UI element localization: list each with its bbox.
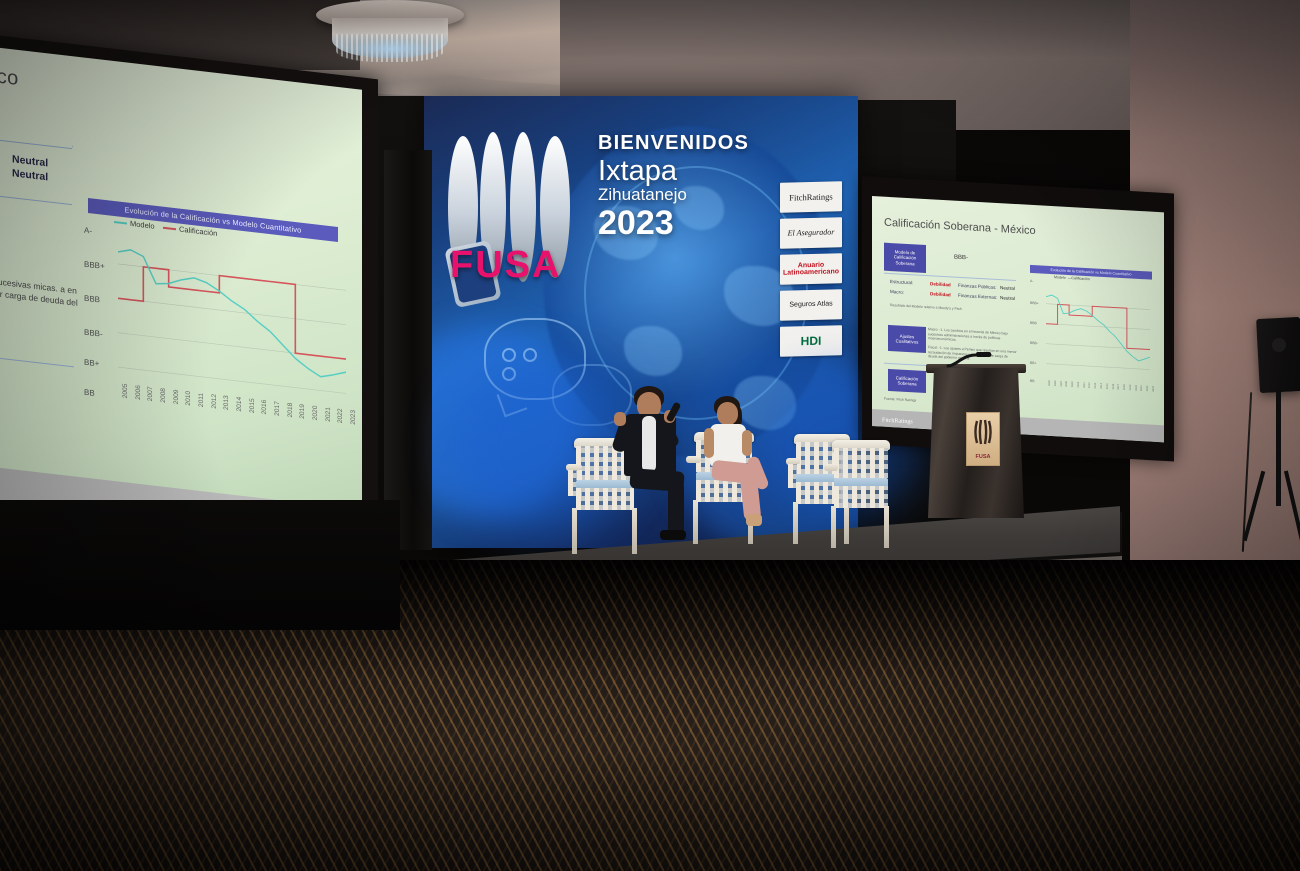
chart-xtick: 2006: [135, 385, 142, 400]
pa-loudspeaker: [1256, 317, 1300, 393]
chart-ytick-0: BB: [84, 388, 95, 398]
chart-xtick: 2016: [1112, 384, 1115, 390]
right-chart-legend: Modelo —Calificación: [1054, 275, 1090, 281]
chart-xtick: 2013: [1094, 383, 1097, 389]
chart-xtick: 2012: [1088, 382, 1091, 388]
chart-xtick: 2021: [1140, 385, 1143, 391]
rating-evolution-chart: Evolución de la Calificación vs Modelo C…: [84, 198, 346, 478]
row2-assessment2: Neutral: [1000, 295, 1015, 301]
sponsor-logo-label: FitchRatings: [789, 192, 832, 202]
chart-xtick: 2021: [325, 407, 332, 422]
chart-xtick: 2019: [299, 404, 306, 419]
sponsor-logo-aseg: El Asegurador: [780, 217, 842, 249]
sponsor-logo-label: Anuario Latinoamericano: [780, 261, 842, 277]
chart-xtick: 2020: [312, 405, 319, 420]
chart-xtick: 2022: [337, 408, 344, 423]
rating-model-box: Modelo de Calificación Soberana: [884, 243, 926, 273]
chart-ytick-2: BBB-: [84, 328, 103, 339]
qual-text-1: Macro: -1. Los cambios en el historial d…: [928, 327, 1018, 346]
chart-xtick: 2009: [173, 389, 180, 404]
sponsor-logo-anuario: Anuario Latinoamericano: [780, 253, 842, 285]
right-rating-chart: Evolución de la Calificación vs Modelo C…: [1030, 265, 1156, 412]
chart-xtick: 2014: [236, 396, 243, 411]
chart-xtick: 2012: [211, 394, 218, 409]
sponsor-logo-label: HDI: [801, 334, 822, 347]
fusa-wordmark: FUSA: [450, 244, 561, 287]
chart-ytick-5: A-: [84, 226, 92, 236]
chart-xtick: 2016: [261, 399, 268, 414]
podium-fusa-icon: [974, 419, 992, 445]
rating-model-value: BBB-: [954, 255, 968, 262]
right-chart-ytick-3: BBB: [1030, 321, 1037, 325]
left-slide: éxico Neutral Neutral ico bajo sucesivas…: [0, 46, 362, 542]
row1-assessment: Debilidad: [930, 281, 951, 287]
chart-xtick: 2019: [1129, 385, 1132, 391]
backdrop-welcome: BIENVENIDOS: [598, 132, 758, 155]
right-chart-xaxis: 2005200620072008200920102011201220132014…: [1046, 386, 1150, 412]
backdrop-headline: BIENVENIDOS Ixtapa Zihuatanejo 2023: [598, 132, 758, 240]
chart-xtick: 2020: [1135, 385, 1138, 391]
chart-xtick: 2017: [1117, 384, 1120, 390]
row2-assessment: Debilidad: [930, 291, 951, 297]
left-projection-screen: éxico Neutral Neutral ico bajo sucesivas…: [0, 46, 362, 542]
right-slide-note: Resultado del Modelo relativo a Moody's …: [890, 303, 1010, 314]
conference-stage-photo: éxico Neutral Neutral ico bajo sucesivas…: [0, 0, 1300, 871]
right-chart-title: Evolución de la Calificación vs Modelo C…: [1030, 265, 1152, 280]
chart-xtick: 2011: [1083, 382, 1086, 388]
right-chart-ytick-4: BBB+: [1030, 301, 1039, 305]
row1-label: Estructural:: [890, 279, 913, 285]
chart-xtick: 2018: [1123, 384, 1126, 390]
stage-drape: [384, 150, 432, 550]
sponsor-logo-column: FitchRatingsEl AseguradorAnuario Latinoa…: [780, 182, 842, 362]
gooseneck-microphone: [946, 352, 992, 368]
chart-xtick: 2011: [198, 393, 205, 408]
backdrop-city2: Zihuatanejo: [598, 186, 758, 205]
speaker-stand-pole: [1276, 388, 1281, 506]
sponsor-logo-hdi: HDI: [780, 325, 842, 357]
chart-xtick: 2009: [1071, 381, 1074, 387]
chart-xtick: 2015: [249, 398, 256, 413]
chart-xtick: 2005: [1048, 380, 1051, 386]
right-chart-ytick-0: BB: [1030, 379, 1035, 383]
backdrop-city: Ixtapa: [598, 157, 758, 186]
circular-chandelier: [310, 0, 470, 72]
final-rating-box: Calificación Soberana: [888, 369, 926, 393]
right-chart-plot: [1046, 284, 1150, 390]
chart-ytick-1: BB+: [84, 358, 99, 369]
chart-xtick: 2018: [287, 402, 294, 417]
right-chart-ytick-2: BBB-: [1030, 341, 1038, 345]
chart-xtick: 2017: [274, 401, 281, 416]
row2-label: Macro:: [890, 289, 904, 295]
sponsor-logo-label: El Asegurador: [788, 228, 835, 238]
row2-label2: Finanzas Externas:: [958, 293, 997, 300]
speaker-driver: [1272, 338, 1286, 352]
chart-xtick: 2008: [1065, 381, 1068, 387]
chart-xtick: 2015: [1106, 383, 1109, 389]
podium-fusa-label: FUSA: [967, 454, 999, 460]
chart-xtick: 2010: [185, 391, 192, 406]
left-slide-value-2: Neutral: [12, 167, 48, 183]
left-slide-title: éxico: [0, 62, 19, 91]
right-slide-source: Fuente: Fitch Ratings: [884, 397, 916, 403]
chart-xtick: 2022: [1146, 386, 1149, 392]
chart-xtick: 2023: [1152, 386, 1155, 392]
chart-xtick: 2005: [122, 383, 129, 398]
sponsor-logo-atlas: Seguros Atlas: [780, 289, 842, 321]
row1-assessment2: Neutral: [1000, 285, 1015, 291]
chart-xtick: 2014: [1100, 383, 1103, 389]
room-dark-foreground-left: [0, 500, 400, 630]
chart-xtick: 2007: [1060, 381, 1063, 387]
chart-xtick: 2006: [1054, 380, 1057, 386]
backdrop-year: 2023: [598, 206, 758, 240]
qualitative-adjustments-box: Ajustes Cualitativos: [888, 325, 926, 353]
podium-fusa-plate: FUSA: [966, 412, 1000, 466]
right-chart-ytick-1: BB+: [1030, 361, 1037, 365]
right-chart-ytick-5: A-: [1030, 279, 1033, 283]
right-slide-title: Calificación Soberana - México: [884, 217, 1036, 237]
chart-ytick-4: BBB+: [84, 260, 105, 271]
chart-xtick: 2008: [160, 388, 167, 403]
chart-xtick: 2007: [147, 386, 154, 401]
chart-xtick: 2013: [223, 395, 230, 410]
left-slide-body: ico bajo sucesivas micas. a en una menor…: [0, 271, 82, 310]
row1-label2: Finanzas Públicas:: [958, 283, 997, 290]
chart-ytick-3: BBB: [84, 294, 100, 305]
sponsor-logo-fitch: FitchRatings: [780, 181, 842, 213]
sponsor-logo-label: Seguros Atlas: [789, 301, 832, 309]
chart-xtick: 2023: [350, 410, 357, 425]
chart-xtick: 2010: [1077, 382, 1080, 388]
